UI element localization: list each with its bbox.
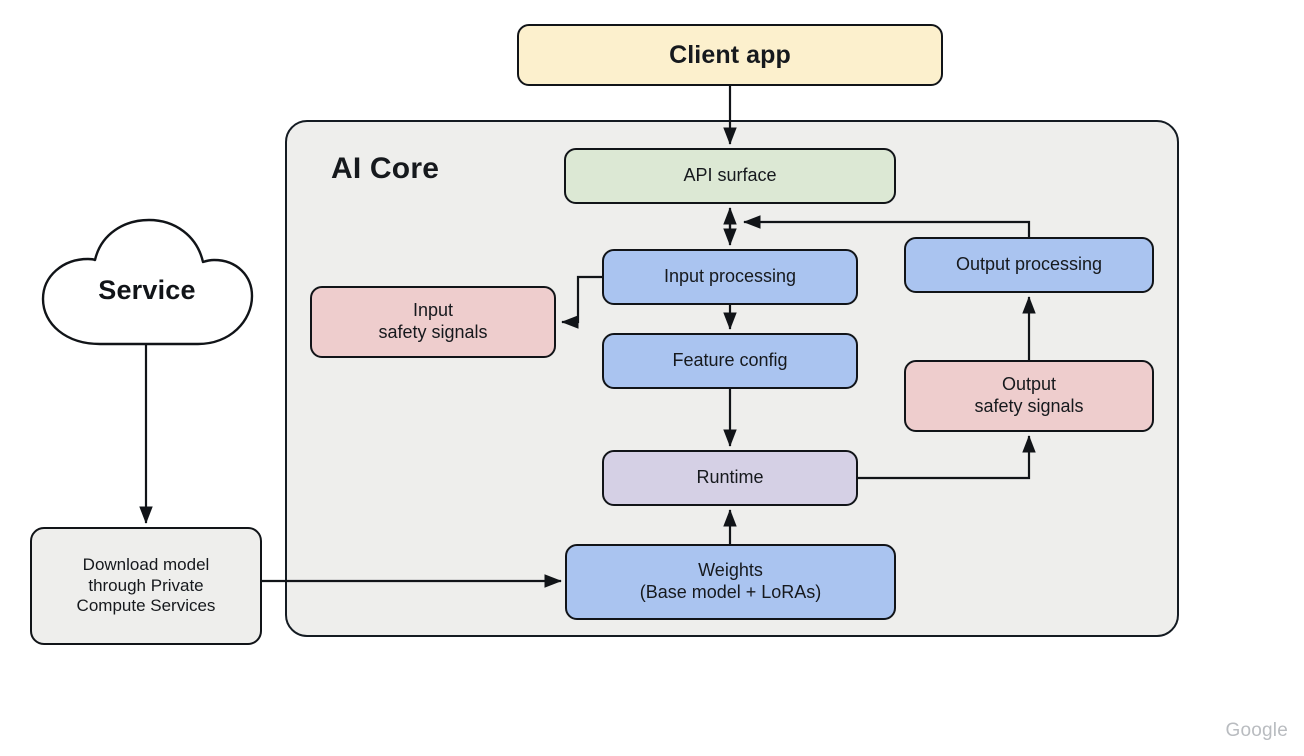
google-watermark: Google bbox=[1226, 720, 1288, 742]
download-model-node: Download model through Private Compute S… bbox=[30, 527, 262, 645]
ai-core-title: AI Core bbox=[331, 152, 439, 186]
runtime-label: Runtime bbox=[696, 467, 763, 489]
input-safety-signals-label: Input safety signals bbox=[378, 300, 487, 344]
input-processing-node: Input processing bbox=[602, 249, 858, 305]
output-processing-node: Output processing bbox=[904, 237, 1154, 293]
api-surface-label: API surface bbox=[683, 165, 776, 187]
diagram-canvas: AI Core bbox=[0, 0, 1304, 756]
weights-label: Weights (Base model + LoRAs) bbox=[640, 560, 822, 604]
client-app-node: Client app bbox=[517, 24, 943, 86]
output-safety-signals-node: Output safety signals bbox=[904, 360, 1154, 432]
runtime-node: Runtime bbox=[602, 450, 858, 506]
feature-config-label: Feature config bbox=[672, 350, 787, 372]
output-safety-signals-label: Output safety signals bbox=[974, 374, 1083, 418]
service-label: Service bbox=[38, 216, 256, 350]
output-processing-label: Output processing bbox=[956, 254, 1102, 276]
input-processing-label: Input processing bbox=[664, 266, 796, 288]
api-surface-node: API surface bbox=[564, 148, 896, 204]
input-safety-signals-node: Input safety signals bbox=[310, 286, 556, 358]
download-model-label: Download model through Private Compute S… bbox=[77, 555, 216, 617]
weights-node: Weights (Base model + LoRAs) bbox=[565, 544, 896, 620]
feature-config-node: Feature config bbox=[602, 333, 858, 389]
client-app-label: Client app bbox=[669, 40, 791, 71]
